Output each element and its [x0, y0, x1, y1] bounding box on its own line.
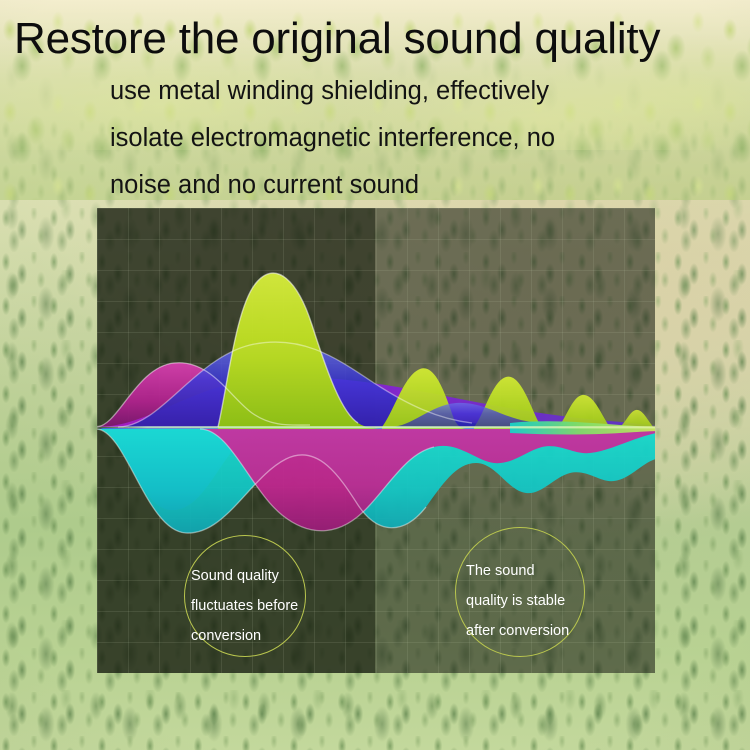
subtitle-line-1: use metal winding shielding, effectively: [110, 68, 710, 115]
waveform-svg: [97, 263, 655, 563]
caption-circle-before: Sound quality fluctuates before conversi…: [184, 535, 306, 657]
page-title: Restore the original sound quality: [14, 14, 744, 64]
subtitle-line-3: noise and no current sound: [110, 162, 710, 209]
caption-after-text: The sound quality is stable after conver…: [466, 556, 569, 646]
caption-before-line-1: Sound quality: [191, 561, 298, 591]
caption-before-line-2: fluctuates before: [191, 591, 298, 621]
caption-before-line-3: conversion: [191, 621, 298, 651]
caption-after-line-1: The sound: [466, 556, 569, 586]
waveform-chart: [97, 263, 655, 563]
wave-axis-line: [97, 426, 655, 428]
page-subtitle: use metal winding shielding, effectively…: [110, 68, 710, 209]
caption-after-line-3: after conversion: [466, 616, 569, 646]
subtitle-line-2: isolate electromagnetic interference, no: [110, 115, 710, 162]
promo-banner: Restore the original sound quality use m…: [0, 0, 750, 750]
caption-after-line-2: quality is stable: [466, 586, 569, 616]
caption-before-text: Sound quality fluctuates before conversi…: [191, 561, 298, 651]
caption-circle-after: The sound quality is stable after conver…: [455, 527, 585, 657]
